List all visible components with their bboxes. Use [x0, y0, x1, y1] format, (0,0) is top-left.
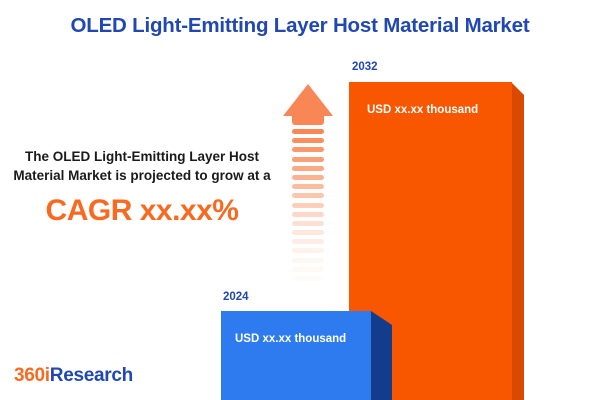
arrow-stripe — [292, 175, 324, 180]
cagr-annotation-block: The OLED Light-Emitting Layer Host Mater… — [8, 148, 276, 228]
arrow-stripe — [292, 221, 324, 226]
arrow-stripe — [292, 258, 324, 263]
arrow-stripe — [292, 248, 324, 253]
bar-2024-side-face — [371, 311, 392, 400]
bar-2032-side-face — [511, 82, 524, 400]
arrow-neck-icon — [292, 115, 324, 125]
arrow-stripe — [292, 203, 324, 208]
arrow-stripe — [292, 138, 324, 143]
arrow-stripe — [292, 166, 324, 171]
cagr-description-text: The OLED Light-Emitting Layer Host Mater… — [8, 148, 276, 185]
arrow-stripe — [292, 129, 324, 134]
brand-logo: 360iResearch — [14, 365, 133, 387]
arrow-shaft-icon — [292, 129, 324, 281]
arrow-stripe — [292, 193, 324, 198]
page-title: OLED Light-Emitting Layer Host Material … — [0, 14, 600, 38]
brand-logo-prefix: 360i — [14, 365, 50, 386]
bar-2032-value-label: USD xx.xx thousand — [367, 104, 478, 116]
bar-2024-value-label: USD xx.xx thousand — [235, 333, 346, 345]
infographic-canvas: OLED Light-Emitting Layer Host Material … — [0, 0, 600, 400]
arrow-head-icon — [283, 84, 333, 116]
arrow-stripe — [292, 184, 324, 189]
arrow-stripe — [292, 276, 324, 281]
bar-2024-front-face — [221, 311, 371, 400]
arrow-stripe — [292, 157, 324, 162]
arrow-stripe — [292, 212, 324, 217]
arrow-stripe — [292, 239, 324, 244]
arrow-stripe — [292, 267, 324, 272]
cagr-value-text: CAGR xx.xx% — [8, 194, 276, 228]
arrow-stripe — [292, 147, 324, 152]
growth-arrow-icon — [283, 84, 333, 284]
bar-2024-category-label: 2024 — [223, 291, 249, 303]
arrow-stripe — [292, 230, 324, 235]
bar-2024: 2024 USD xx.xx thousand — [221, 311, 392, 400]
brand-logo-suffix: Research — [50, 365, 133, 386]
bar-2032-category-label: 2032 — [352, 61, 378, 73]
